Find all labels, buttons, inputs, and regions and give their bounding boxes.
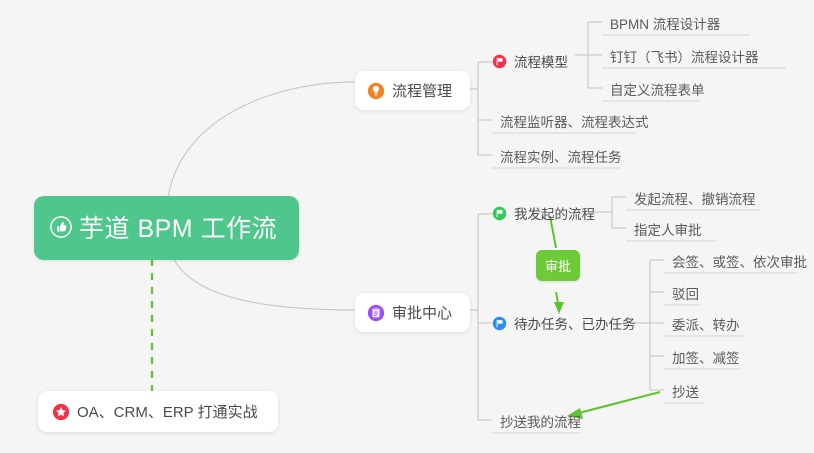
leaf-reject[interactable]: 驳回 — [662, 280, 709, 308]
node-label: 抄送 — [672, 381, 699, 401]
node-label: BPMN 流程设计器 — [610, 13, 720, 33]
clipboard-icon — [367, 304, 385, 322]
floating-node-oa-crm-erp[interactable]: OA、CRM、ERP 打通实战 — [38, 391, 278, 432]
flag-icon — [492, 54, 507, 69]
leaf-start-cancel-process[interactable]: 发起流程、撤销流程 — [624, 185, 766, 213]
leaf-add-remove-sign[interactable]: 加签、减签 — [662, 344, 750, 372]
leaf-assignee-approval[interactable]: 指定人审批 — [624, 216, 712, 244]
node-label: 会签、或签、依次审批 — [672, 251, 807, 271]
node-label: 指定人审批 — [634, 219, 702, 239]
node-label: 流程模型 — [514, 51, 568, 71]
thumbs-up-icon — [50, 216, 72, 238]
node-label: 我发起的流程 — [514, 203, 595, 223]
leaf-custom-form[interactable]: 自定义流程表单 — [600, 76, 715, 104]
node-process-model[interactable]: 流程模型 — [492, 48, 578, 76]
star-icon — [52, 403, 70, 421]
leaf-cc[interactable]: 抄送 — [662, 378, 709, 406]
branch-label: 审批中心 — [392, 302, 452, 323]
flag-icon — [492, 206, 507, 221]
leaf-bpmn-designer[interactable]: BPMN 流程设计器 — [600, 10, 730, 38]
branch-process-management[interactable]: 流程管理 — [355, 71, 470, 110]
leaf-cc-to-me[interactable]: 抄送我的流程 — [490, 408, 591, 436]
node-label: 流程实例、流程任务 — [500, 146, 622, 166]
node-label: 委派、转办 — [672, 314, 740, 334]
leaf-dingtalk-designer[interactable]: 钉钉（飞书）流程设计器 — [600, 43, 769, 71]
node-label: 流程监听器、流程表达式 — [500, 111, 649, 131]
node-label: 发起流程、撤销流程 — [634, 188, 756, 208]
mindmap-canvas: 芋道 BPM 工作流 流程管理 流程模型 BPMN 流程设计器 钉钉（飞书）流程 — [0, 0, 814, 453]
tag-label: 审批 — [545, 256, 571, 275]
approval-tag[interactable]: 审批 — [536, 250, 580, 281]
leaf-process-instance[interactable]: 流程实例、流程任务 — [490, 143, 632, 171]
node-label: 驳回 — [672, 283, 699, 303]
node-label: 自定义流程表单 — [610, 79, 705, 99]
branch-approval-center[interactable]: 审批中心 — [355, 293, 470, 332]
lightbulb-icon — [367, 82, 385, 100]
flag-icon — [492, 316, 507, 331]
branch-label: 流程管理 — [392, 80, 452, 101]
link-root-to-process-management — [168, 82, 355, 198]
leaf-countersign[interactable]: 会签、或签、依次审批 — [662, 248, 814, 276]
integration-dashed-arrow — [146, 242, 158, 392]
root-node[interactable]: 芋道 BPM 工作流 — [34, 196, 299, 260]
leaf-process-listener[interactable]: 流程监听器、流程表达式 — [490, 108, 659, 136]
node-label: 钉钉（飞书）流程设计器 — [610, 46, 759, 66]
node-label: 加签、减签 — [672, 347, 740, 367]
root-label: 芋道 BPM 工作流 — [79, 209, 277, 245]
node-label: 待办任务、已办任务 — [514, 313, 636, 333]
node-todo-done-tasks[interactable]: 待办任务、已办任务 — [492, 310, 646, 338]
leaf-delegate-transfer[interactable]: 委派、转办 — [662, 311, 750, 339]
node-my-initiated[interactable]: 我发起的流程 — [492, 200, 605, 228]
floating-node-label: OA、CRM、ERP 打通实战 — [77, 401, 258, 422]
node-label: 抄送我的流程 — [500, 411, 581, 431]
